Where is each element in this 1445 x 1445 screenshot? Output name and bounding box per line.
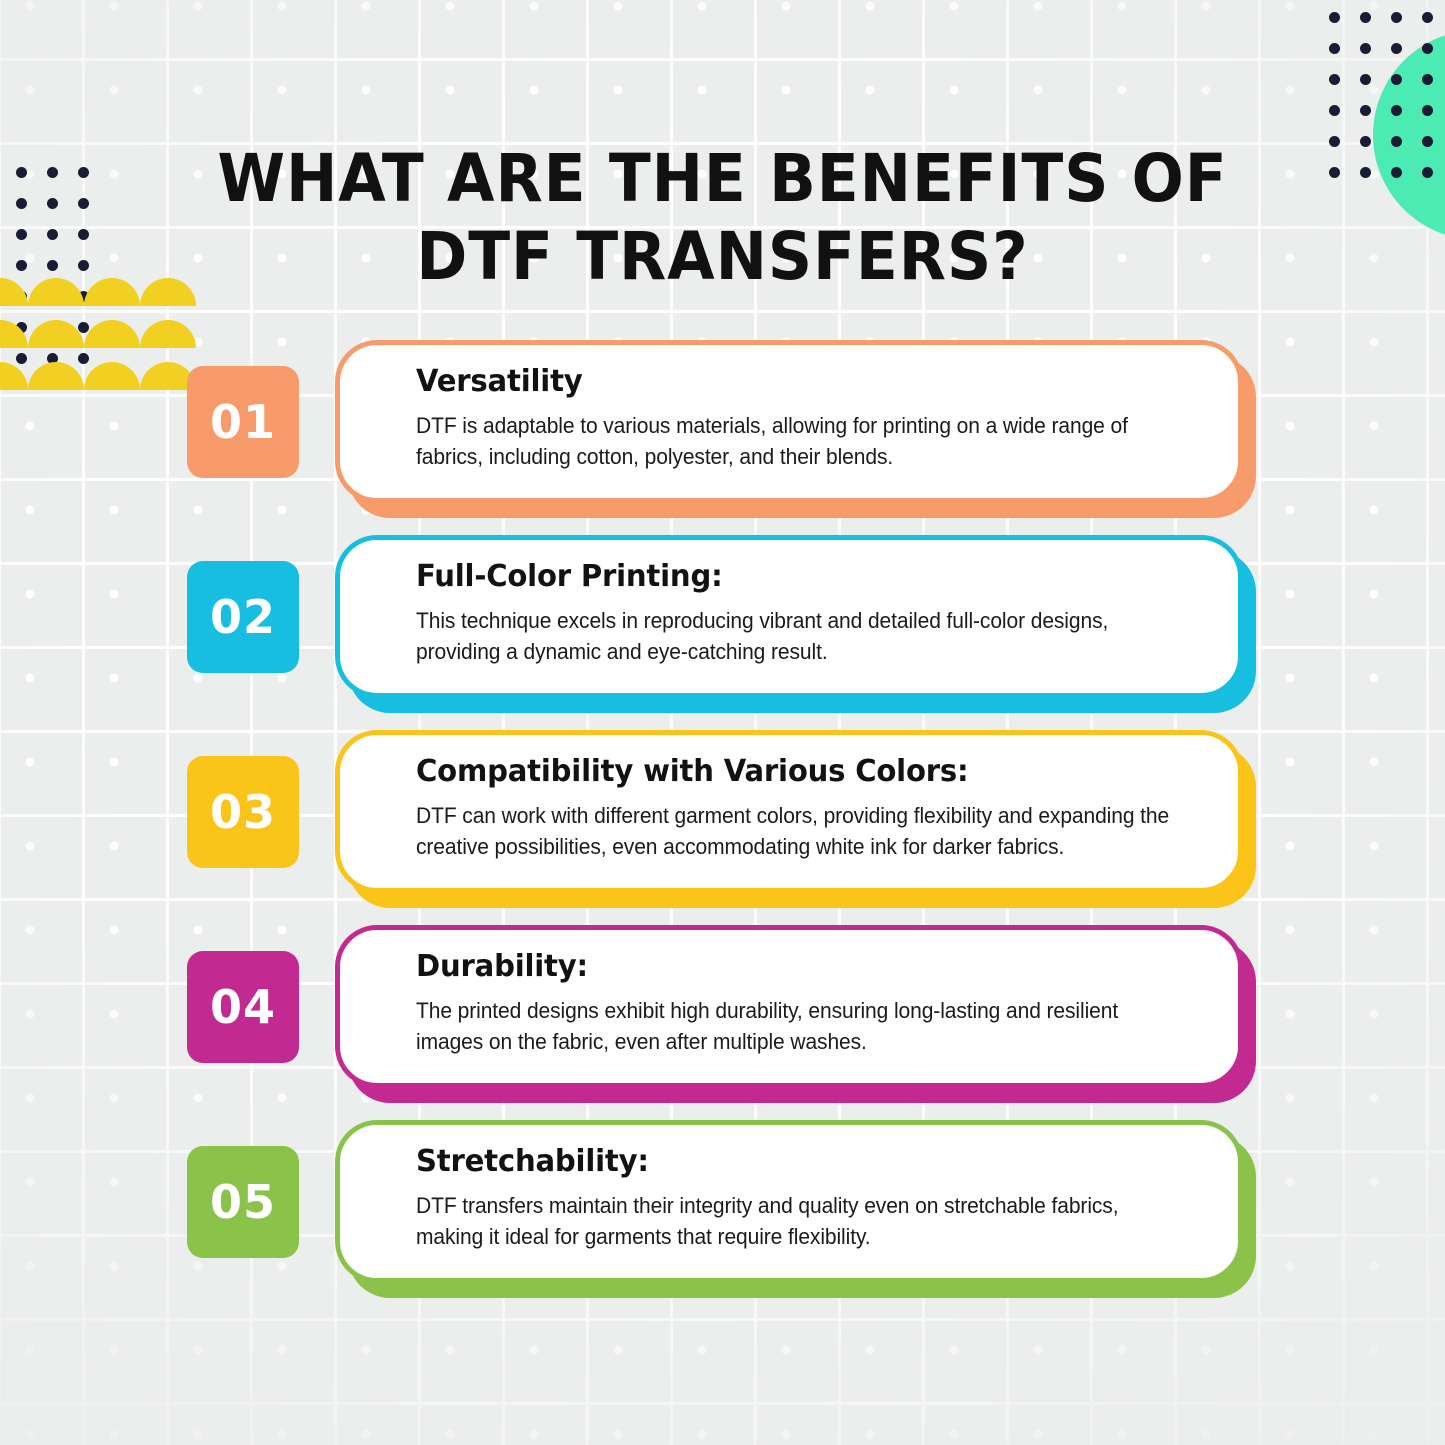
benefit-number-badge: 05: [187, 1146, 299, 1258]
benefit-card[interactable]: Stretchability:DTF transfers maintain th…: [335, 1120, 1243, 1283]
benefit-description: The printed designs exhibit high durabil…: [416, 995, 1172, 1057]
benefit-title: Durability:: [416, 949, 1184, 985]
benefit-row: 03Compatibility with Various Colors:DTF …: [0, 728, 1445, 923]
benefit-number-badge: 04: [187, 951, 299, 1063]
benefit-card[interactable]: Full-Color Printing:This technique excel…: [335, 535, 1243, 698]
benefit-number-badge: 03: [187, 756, 299, 868]
page-title: WHAT ARE THE BENEFITS OF DTF TRANSFERS?: [209, 140, 1237, 296]
benefit-number-badge: 02: [187, 561, 299, 673]
benefit-row: 05Stretchability:DTF transfers maintain …: [0, 1118, 1445, 1313]
benefit-card[interactable]: VersatilityDTF is adaptable to various m…: [335, 340, 1243, 503]
benefit-row: 04Durability:The printed designs exhibit…: [0, 923, 1445, 1118]
benefit-title: Stretchability:: [416, 1144, 1184, 1180]
benefit-description: DTF transfers maintain their integrity a…: [416, 1190, 1172, 1252]
benefit-title: Versatility: [416, 364, 1184, 400]
benefit-card[interactable]: Durability:The printed designs exhibit h…: [335, 925, 1243, 1088]
benefit-number-badge: 01: [187, 366, 299, 478]
benefit-row: 01VersatilityDTF is adaptable to various…: [0, 338, 1445, 533]
benefits-list: 01VersatilityDTF is adaptable to various…: [0, 338, 1445, 1313]
benefit-description: This technique excels in reproducing vib…: [416, 605, 1172, 667]
benefit-card[interactable]: Compatibility with Various Colors:DTF ca…: [335, 730, 1243, 893]
benefit-description: DTF can work with different garment colo…: [416, 800, 1172, 862]
benefit-title: Full-Color Printing:: [416, 559, 1184, 595]
benefit-title: Compatibility with Various Colors:: [416, 754, 1184, 790]
benefit-row: 02Full-Color Printing:This technique exc…: [0, 533, 1445, 728]
benefit-description: DTF is adaptable to various materials, a…: [416, 410, 1172, 472]
